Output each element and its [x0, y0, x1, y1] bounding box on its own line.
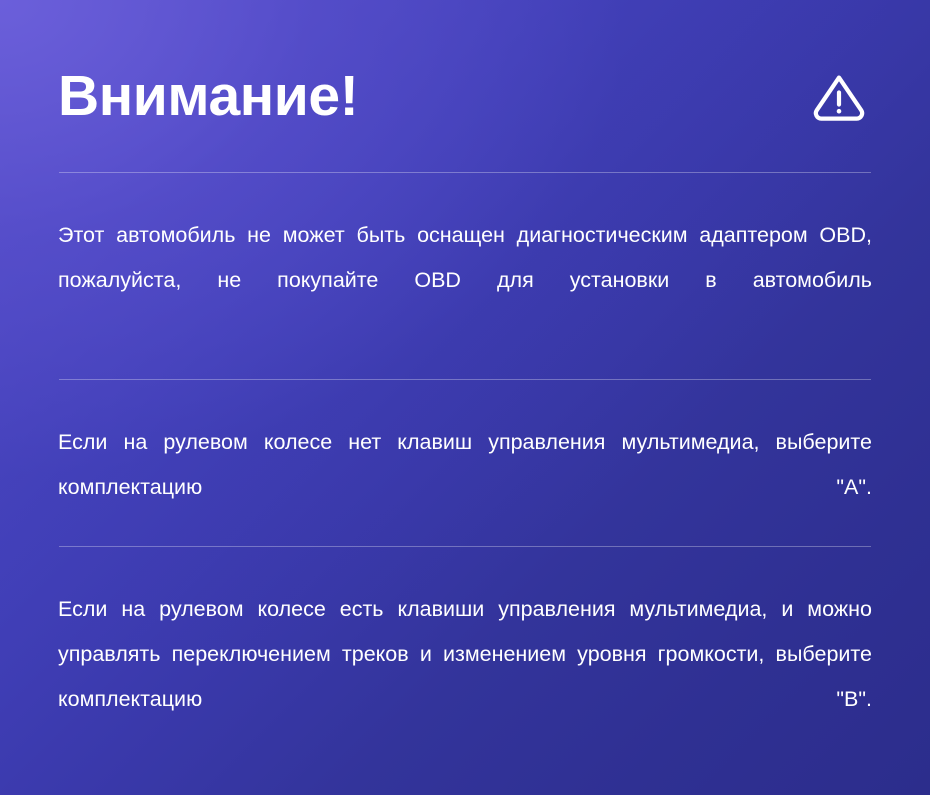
divider-3 [59, 546, 871, 547]
notice-paragraph-obd: Этот автомобиль не может быть оснащен ди… [58, 213, 872, 348]
warning-triangle-icon [811, 68, 870, 124]
banner-header: Внимание! [58, 48, 870, 144]
notice-paragraph-variant-b: Если на рулевом колесе есть клавиши упра… [58, 587, 872, 767]
warning-banner: Внимание! Этот автомобиль не может быть … [0, 0, 930, 795]
divider-2 [59, 379, 871, 380]
divider-1 [59, 172, 871, 173]
notice-paragraph-variant-a: Если на рулевом колесе нет клавиш управл… [58, 420, 872, 555]
page-title: Внимание! [58, 68, 358, 125]
